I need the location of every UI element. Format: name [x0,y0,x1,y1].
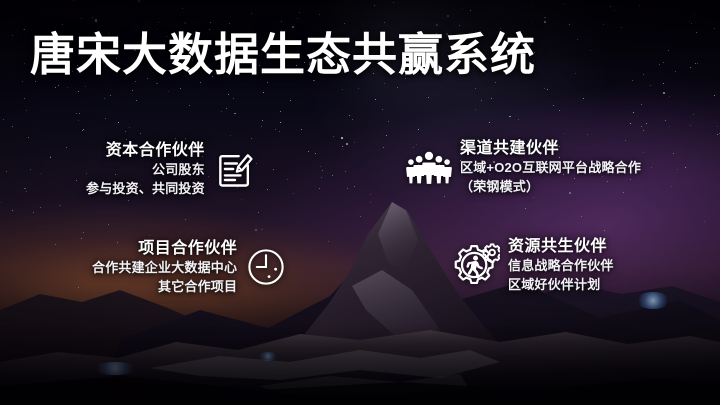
partner-block-capital-text: 资本合作伙伴 公司股东 参与投资、共同投资 [86,140,205,198]
partner-block-channel-text: 渠道共建伙伴 区域+O2O互联网平台战略合作 （荣钢模式） [460,138,641,196]
partner-block-project-title: 项目合作伙伴 [138,238,237,259]
slide-canvas: 唐宋大数据生态共赢系统 资本合作伙伴 公司股东 参与投资、共同投资 [0,0,720,405]
contract-pen-icon [213,147,257,191]
partner-block-capital-title: 资本合作伙伴 [106,140,205,161]
partner-block-resource[interactable]: 资源共生伙伴 信息战略合作伙伴 区域好伙伴计划 [452,236,614,294]
partner-block-resource-title: 资源共生伙伴 [508,236,607,257]
partner-block-channel-title: 渠道共建伙伴 [460,138,559,159]
partner-block-resource-line-1: 信息战略合作伙伴 [508,257,614,275]
clock-icon [245,246,287,288]
gear-person-icon [452,242,500,288]
partner-block-channel-line-1: 区域+O2O互联网平台战略合作 [460,159,641,177]
partner-block-capital-line-2: 参与投资、共同投资 [86,180,205,198]
partner-block-project[interactable]: 项目合作伙伴 合作共建企业大数据中心 其它合作项目 [92,238,287,296]
partner-block-project-line-1: 合作共建企业大数据中心 [92,259,237,277]
partner-block-channel[interactable]: 渠道共建伙伴 区域+O2O互联网平台战略合作 （荣钢模式） [406,138,641,196]
partner-block-project-text: 项目合作伙伴 合作共建企业大数据中心 其它合作项目 [92,238,237,296]
page-title: 唐宋大数据生态共赢系统 [30,32,536,77]
people-group-icon [406,147,452,187]
partner-block-channel-line-2: （荣钢模式） [460,178,539,196]
partner-block-capital[interactable]: 资本合作伙伴 公司股东 参与投资、共同投资 [86,140,257,198]
partner-block-project-line-2: 其它合作项目 [158,278,237,296]
partner-block-resource-line-2: 区域好伙伴计划 [508,276,600,294]
partner-block-capital-line-1: 公司股东 [152,161,205,179]
partner-block-resource-text: 资源共生伙伴 信息战略合作伙伴 区域好伙伴计划 [508,236,614,294]
